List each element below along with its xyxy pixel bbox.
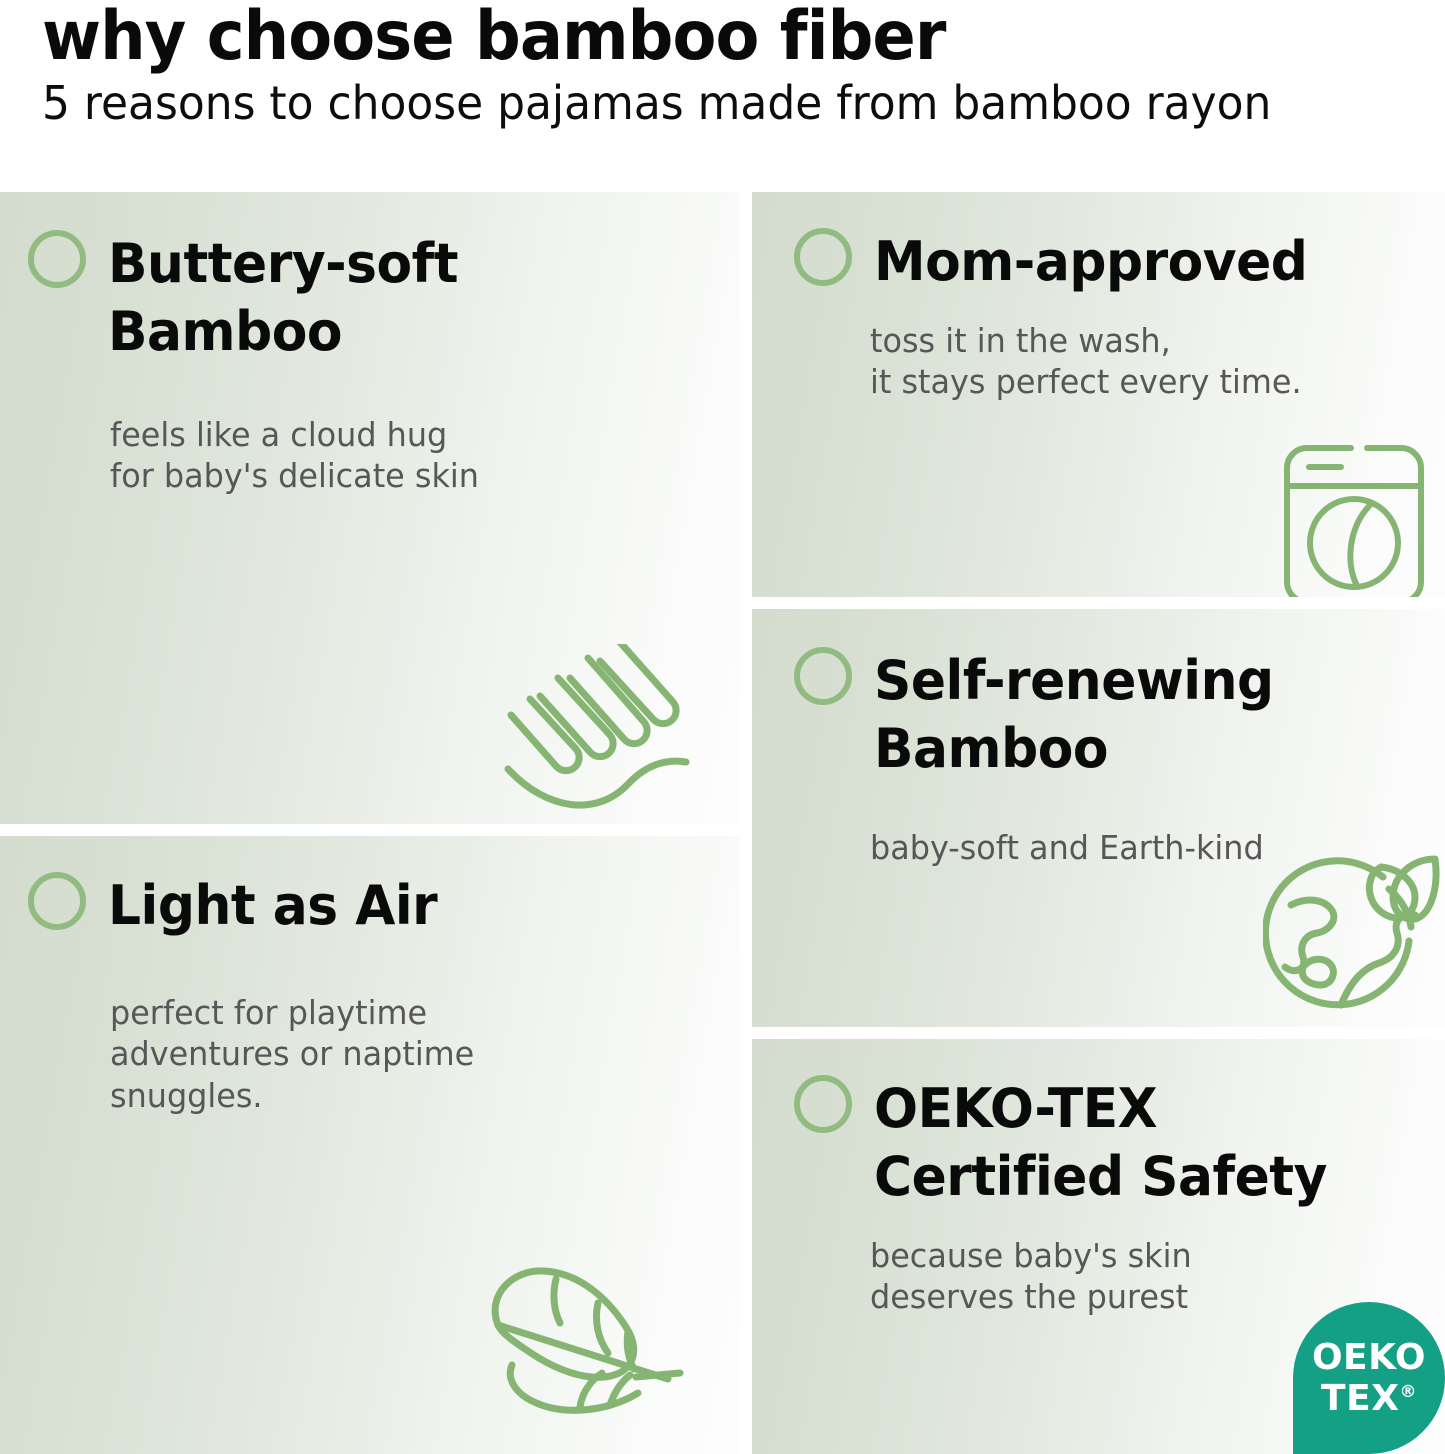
circle-bullet-icon — [28, 872, 86, 930]
washing-machine-icon — [1279, 442, 1429, 597]
oeko-badge-line2: TEX® — [1321, 1381, 1417, 1417]
circle-bullet-icon — [794, 647, 852, 705]
card-headline-row: OEKO-TEX Certified Safety — [752, 1039, 1445, 1211]
circle-bullet-icon — [28, 230, 86, 288]
card-title: Mom-approved — [874, 228, 1307, 296]
earth-leaf-icon — [1263, 845, 1443, 1025]
card-self-renewing-bamboo: Self-renewing Bamboo baby-soft and Earth… — [752, 609, 1445, 1027]
card-headline-row: Mom-approved — [752, 192, 1445, 296]
feather-icon — [468, 1247, 708, 1454]
card-oeko-tex-certified-safety: OEKO-TEX Certified Safety because baby's… — [752, 1039, 1445, 1454]
card-title: OEKO-TEX Certified Safety — [874, 1075, 1327, 1211]
benefits-board: Buttery-soft Bamboo feels like a cloud h… — [0, 192, 1445, 1454]
registered-mark: ® — [1399, 1382, 1417, 1402]
card-mom-approved: Mom-approved toss it in the wash, it sta… — [752, 192, 1445, 597]
page-title: why choose bamboo fiber — [42, 2, 1361, 73]
card-headline-row: Light as Air — [0, 836, 740, 940]
page-header: why choose bamboo fiber 5 reasons to cho… — [0, 0, 1445, 130]
circle-bullet-icon — [794, 228, 852, 286]
card-headline-row: Self-renewing Bamboo — [752, 609, 1445, 783]
card-body-text: toss it in the wash, it stays perfect ev… — [870, 320, 1425, 403]
card-body-text: because baby's skin deserves the purest — [870, 1235, 1425, 1318]
card-title: Self-renewing Bamboo — [874, 647, 1274, 783]
card-title: Buttery-soft Bamboo — [108, 230, 458, 366]
oeko-badge-line1: OEKO — [1312, 1340, 1426, 1376]
card-buttery-soft-bamboo: Buttery-soft Bamboo feels like a cloud h… — [0, 192, 740, 824]
card-body-text: perfect for playtime adventures or napti… — [110, 992, 718, 1116]
page-subtitle: 5 reasons to choose pajamas made from ba… — [42, 77, 1382, 130]
right-column: Mom-approved toss it in the wash, it sta… — [752, 192, 1445, 1454]
circle-bullet-icon — [794, 1075, 852, 1133]
oeko-badge-line2-text: TEX — [1321, 1378, 1399, 1419]
left-column: Buttery-soft Bamboo feels like a cloud h… — [0, 192, 740, 1454]
card-body-text: feels like a cloud hug for baby's delica… — [110, 414, 718, 497]
card-title: Light as Air — [108, 872, 437, 940]
card-light-as-air: Light as Air perfect for playtime advent… — [0, 836, 740, 1454]
card-headline-row: Buttery-soft Bamboo — [0, 192, 740, 366]
oeko-tex-badge: OEKO TEX® — [1293, 1302, 1445, 1454]
hand-touch-icon — [478, 644, 708, 824]
